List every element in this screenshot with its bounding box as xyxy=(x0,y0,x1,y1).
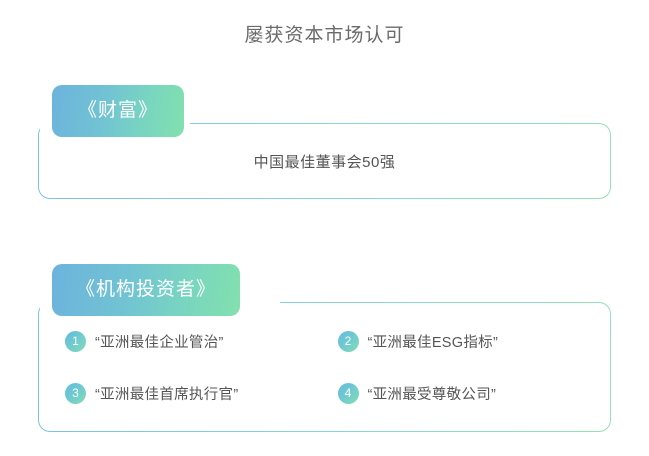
section-panel-investor: 1 “亚洲最佳企业管治” 2 “亚洲最佳ESG指标” 3 “亚洲最佳首席执行官”… xyxy=(38,302,611,432)
award-item: 4 “亚洲最受尊敬公司” xyxy=(338,383,611,404)
award-number-badge: 1 xyxy=(65,331,86,352)
award-item: 1 “亚洲最佳企业管治” xyxy=(65,331,338,352)
award-grid: 1 “亚洲最佳企业管治” 2 “亚洲最佳ESG指标” 3 “亚洲最佳首席执行官”… xyxy=(39,303,610,431)
award-number-badge: 2 xyxy=(338,331,359,352)
award-number-badge: 4 xyxy=(338,383,359,404)
award-item: 3 “亚洲最佳首席执行官” xyxy=(65,383,338,404)
section-tag-fortune: 《财富》 xyxy=(52,85,184,137)
award-section-fortune: 《财富》 中国最佳董事会50强 xyxy=(38,85,611,199)
section-panel-inner-investor: 1 “亚洲最佳企业管治” 2 “亚洲最佳ESG指标” 3 “亚洲最佳首席执行官”… xyxy=(39,303,610,431)
award-label: “亚洲最佳ESG指标” xyxy=(368,331,499,352)
award-number-badge: 3 xyxy=(65,383,86,404)
section-tag-investor: 《机构投资者》 xyxy=(52,264,240,316)
award-label: “亚洲最佳首席执行官” xyxy=(95,383,238,404)
award-label: “亚洲最佳企业管治” xyxy=(95,331,224,352)
award-text-fortune: 中国最佳董事会50强 xyxy=(254,151,396,172)
page-title: 屡获资本市场认可 xyxy=(0,20,649,47)
slide-canvas: 屡获资本市场认可 《财富》 中国最佳董事会50强 《机构投资者》 1 “亚洲最佳… xyxy=(0,0,649,456)
award-section-investor: 《机构投资者》 1 “亚洲最佳企业管治” 2 “亚洲最佳ESG指标” 3 “ xyxy=(38,264,611,432)
award-item: 2 “亚洲最佳ESG指标” xyxy=(338,331,611,352)
award-label: “亚洲最受尊敬公司” xyxy=(368,383,497,404)
